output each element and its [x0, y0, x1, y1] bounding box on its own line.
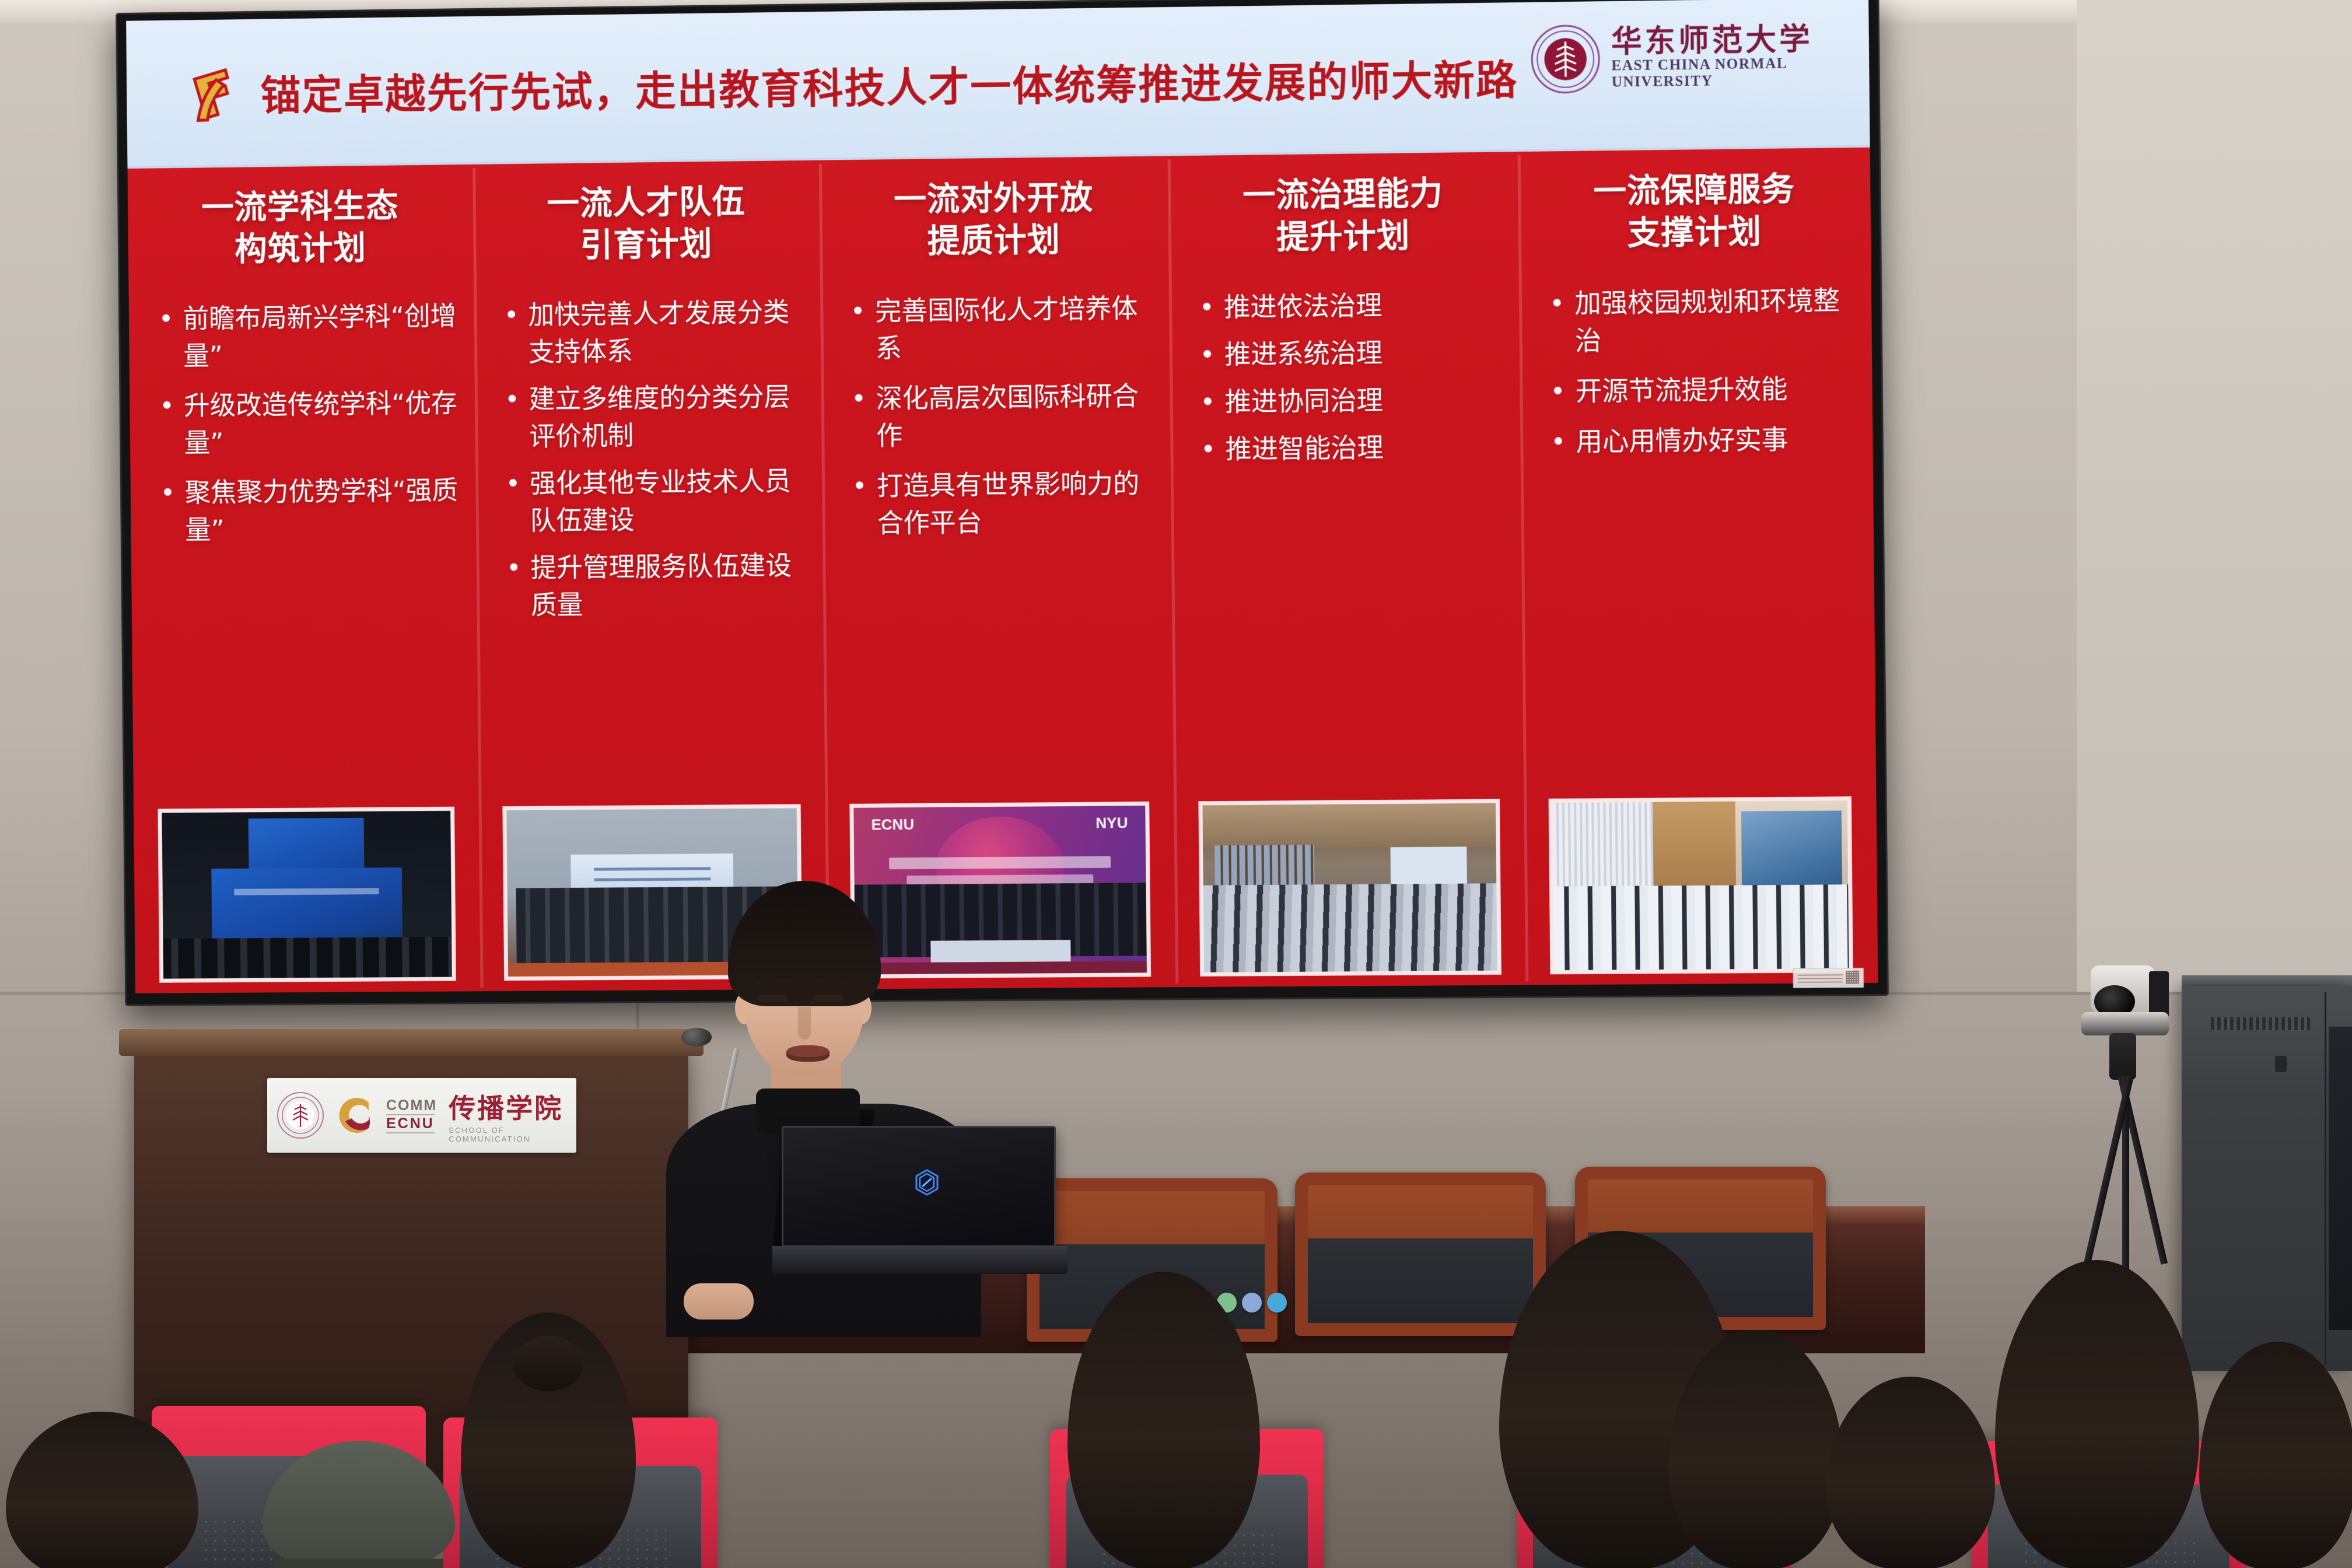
photo-seating-rows [1203, 884, 1497, 972]
bullet-item: 推进智能治理 [1202, 428, 1508, 468]
photo-top-screen [249, 818, 365, 869]
bullet-item: 推进协同治理 [1201, 381, 1507, 421]
bullet-item: 深化高层次国际科研合作 [853, 377, 1158, 455]
equipment-rack [2182, 986, 2352, 1371]
photo-cell [1524, 785, 1878, 975]
badge-icon [1267, 1293, 1287, 1312]
presenter-mouth [786, 1045, 829, 1062]
column-title-line1: 一流保障服务 [1528, 167, 1860, 213]
rack-door-seam [2325, 992, 2326, 1365]
photo-presentation-screen [1390, 847, 1466, 884]
bullet-item: 建立多维度的分类分层评价机制 [506, 379, 809, 456]
university-logo: 华东师范大学 EAST CHINA NORMAL UNIVERSITY [1530, 21, 1814, 95]
photo-student-row [1553, 884, 1849, 970]
column-title: 一流保障服务 支撑计划 [1528, 167, 1860, 256]
bullet-item: 升级改造传统学科“优存量” [160, 385, 462, 462]
university-name-cn: 华东师范大学 [1611, 23, 1813, 58]
column-title-line1: 一流人才队伍 [483, 180, 809, 226]
photo-screen-banner-text [235, 888, 379, 895]
school-name-en: SCHOOL OF COMMUNICATION [449, 1126, 567, 1143]
bullet-item: 加快完善人才发展分类支持体系 [505, 294, 808, 372]
column-title-line1: 一流对外开放 [829, 176, 1157, 222]
bullet-item: 打造具有世界影响力的合作平台 [853, 465, 1158, 542]
bullet-item: 聚焦聚力优势学科“强质量” [162, 472, 463, 549]
slide-header: 锚定卓越先行先试，走出教育科技人才一体统筹推进发展的师大新路 [126, 0, 1870, 169]
school-name-cn: 传播学院 [449, 1087, 567, 1126]
hexagon-logo-icon [915, 1169, 939, 1196]
column-title: 一流对外开放 提质计划 [829, 176, 1158, 264]
photo-students [1549, 796, 1853, 974]
slide-photo-strip: ECNU NYU [134, 785, 1878, 983]
photo-auditorium [1198, 799, 1501, 977]
rack-glass-door [2329, 1027, 2352, 1330]
column-title-line2: 支撑计划 [1529, 209, 1860, 256]
bullet-item: 前瞻布局新兴学科“创增量” [160, 298, 461, 376]
university-name-en: EAST CHINA NORMAL UNIVERSITY [1611, 55, 1806, 91]
photo-banner-line [594, 867, 711, 870]
audience-hair-bun [513, 1336, 583, 1391]
laptop-lid [782, 1126, 1056, 1247]
comm-c-icon [332, 1091, 378, 1140]
podium-top-surface [119, 1029, 703, 1056]
qr-label-icon [1793, 968, 1864, 988]
photo-audience-row [163, 937, 452, 978]
column-title: 一流治理能力 提升计划 [1178, 171, 1508, 259]
presentation-slide: 锚定卓越先行先试，走出教育科技人才一体统筹推进发展的师大新路 [126, 0, 1878, 993]
photo-cell [134, 795, 480, 983]
bullet-item: 加强校园规划和环境整治 [1551, 282, 1859, 360]
camera-mount-plate [2081, 1012, 2169, 1035]
school-name-block: 传播学院 SCHOOL OF COMMUNICATION [449, 1087, 567, 1143]
column-title-line2: 引育计划 [484, 222, 810, 267]
projection-screen-surface: 锚定卓越先行先试，走出教育科技人才一体统筹推进发展的师大新路 [126, 0, 1878, 993]
column-title-line1: 一流学科生态 [138, 184, 463, 230]
comm-label: COMM [386, 1097, 437, 1114]
rack-lock-icon [2275, 1056, 2287, 1072]
column-title-line2: 提质计划 [830, 218, 1158, 263]
ecnu-seal-icon [1530, 23, 1601, 94]
column-title: 一流学科生态 构筑计划 [138, 184, 463, 271]
column-bullet-list: 完善国际化人才培养体系 深化高层次国际科研合作 打造具有世界影响力的合作平台 [831, 290, 1161, 542]
presenter-hand [684, 1283, 754, 1319]
bullet-item: 完善国际化人才培养体系 [852, 290, 1157, 367]
column-bullet-list: 加快完善人才发展分类支持体系 建立多维度的分类分层评价机制 强化其他专业技术人员… [484, 294, 813, 624]
presenter-eye [758, 995, 787, 1002]
presenter-laptop[interactable] [782, 1126, 1056, 1277]
slide-title: 锚定卓越先行先试，走出教育科技人才一体统筹推进发展的师大新路 [260, 47, 1518, 122]
stage-chair[interactable] [1295, 1172, 1546, 1336]
bullet-item: 强化其他专业技术人员队伍建设 [506, 463, 810, 540]
bullet-item: 提升管理服务队伍建设质量 [508, 547, 811, 624]
ecnu-label: ECNU [386, 1114, 435, 1133]
laptop-base [772, 1246, 1067, 1274]
projection-screen-bezel: 锚定卓越先行先试，走出教育科技人才一体统筹推进发展的师大新路 [116, 0, 1889, 1006]
column-title-line2: 构筑计划 [138, 226, 463, 271]
column-bullet-list: 推进依法治理 推进系统治理 推进协同治理 推进智能治理 [1179, 286, 1510, 469]
photo-brand-ecnu: ECNU [871, 815, 914, 834]
column-title-line1: 一流治理能力 [1178, 171, 1508, 218]
column-bullet-list: 加强校园规划和环境整治 开源节流提升效能 用心用情办好实事 [1529, 282, 1862, 461]
photo-ceiling [1202, 803, 1496, 849]
photo-banner-line [889, 856, 1111, 869]
comm-ecnu-wordmark: COMM ECNU [386, 1097, 437, 1133]
bullet-item: 推进系统治理 [1201, 334, 1507, 374]
photo-cell [1174, 787, 1526, 977]
column-title-line2: 提升计划 [1178, 213, 1508, 259]
ecnu-seal-icon [276, 1091, 324, 1139]
lecture-hall-scene: 锚定卓越先行先试，走出教育科技人才一体统筹推进发展的师大新路 [0, 0, 2352, 1568]
bullet-item: 用心用情办好实事 [1552, 421, 1860, 461]
tripod-head [2109, 1033, 2136, 1080]
photo-conference-hall [157, 807, 456, 983]
presenter-nose [798, 1007, 811, 1039]
bullet-item: 开源节流提升效能 [1552, 370, 1860, 411]
right-wall-panel [2077, 0, 2352, 992]
presenter-eye [814, 995, 843, 1002]
party-emblem-icon [182, 58, 246, 129]
rack-vent-grille [2211, 1017, 2310, 1030]
bullet-item: 推进依法治理 [1200, 286, 1507, 327]
presenter-hair [728, 881, 881, 1006]
badge-icon [1242, 1293, 1262, 1312]
column-title: 一流人才队伍 引育计划 [483, 180, 810, 267]
photo-brand-nyu: NYU [1095, 814, 1128, 832]
column-bullet-list: 前瞻布局新兴学科“创增量” 升级改造传统学科“优存量” 聚焦聚力优势学科“强质量… [139, 298, 466, 549]
university-name-block: 华东师范大学 EAST CHINA NORMAL UNIVERSITY [1611, 23, 1814, 91]
school-of-communication-sign: COMM ECNU 传播学院 SCHOOL OF COMMUNICATION [267, 1078, 576, 1153]
